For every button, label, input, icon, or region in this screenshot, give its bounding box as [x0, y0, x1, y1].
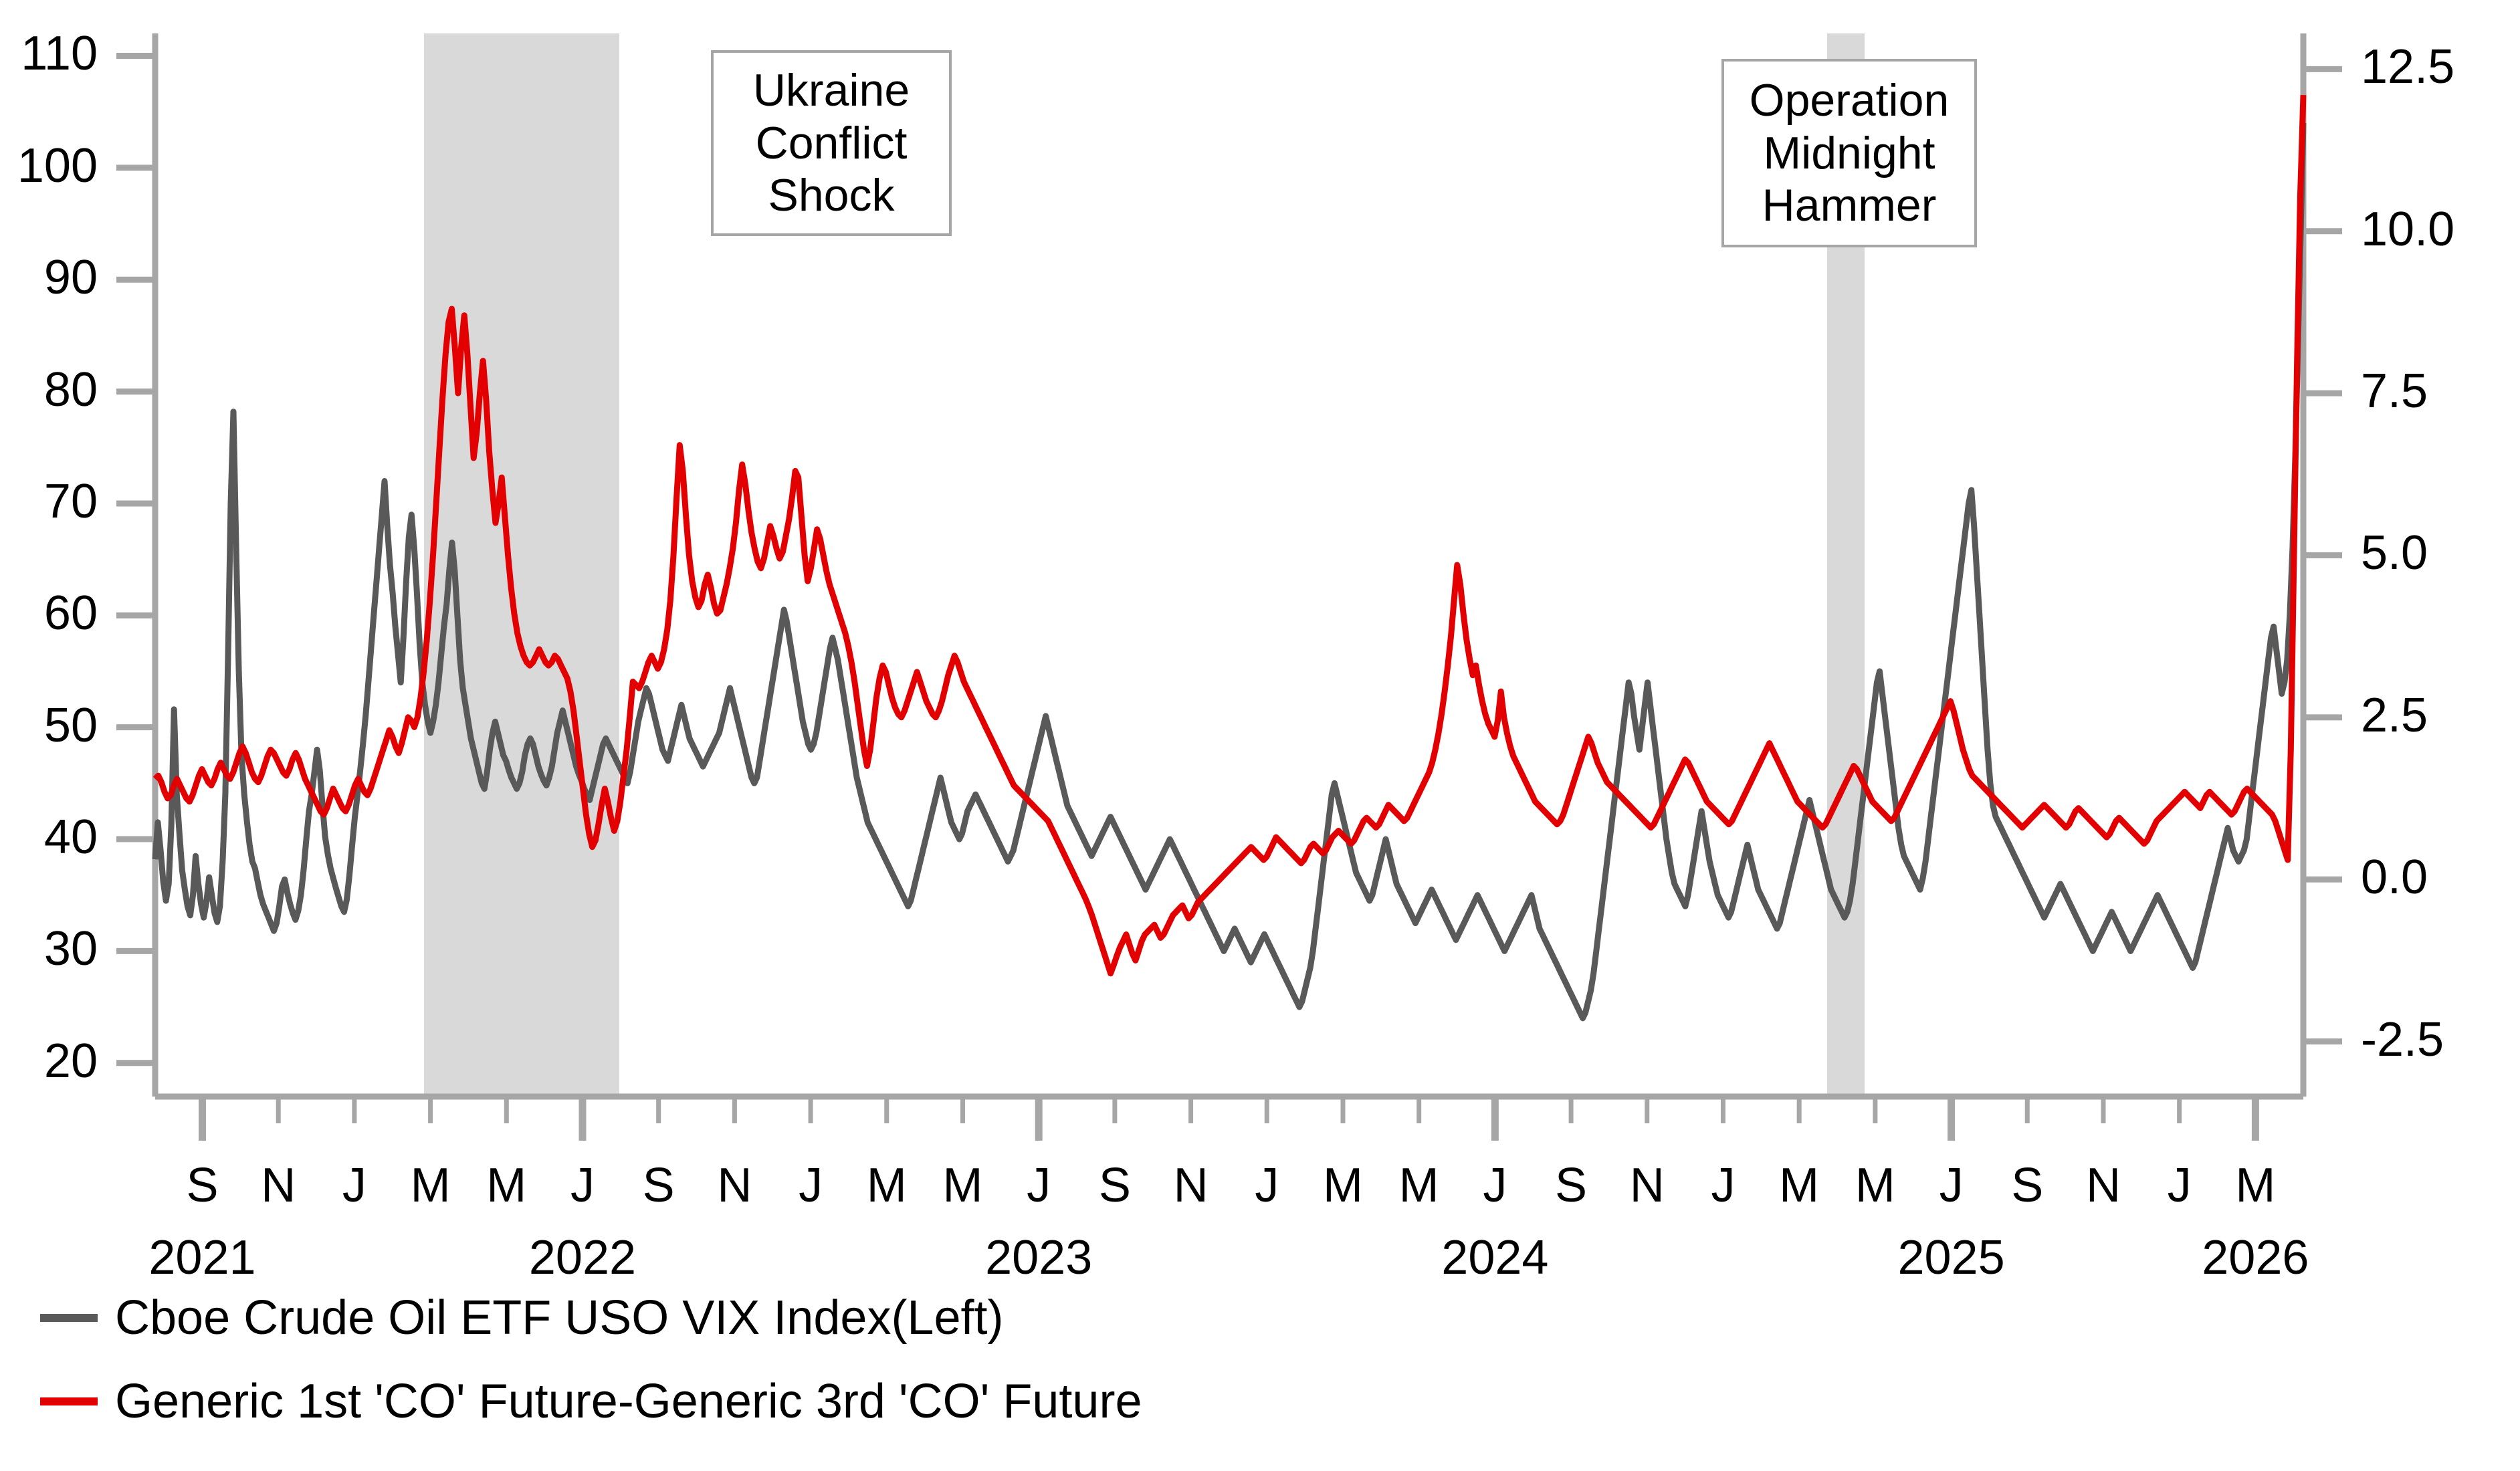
x-axis-year-label: 2021	[95, 1230, 309, 1285]
right-axis-tick-label: 7.5	[2361, 364, 2520, 419]
right-axis-tick-label: 5.0	[2361, 526, 2520, 580]
annotation-line: Hammer	[1762, 179, 1937, 232]
x-axis-year-label: 2025	[1845, 1230, 2059, 1285]
x-axis-year-label: 2022	[476, 1230, 690, 1285]
left-axis-tick-label: 110	[0, 26, 98, 81]
bottom-axis-ticks	[202, 1097, 2255, 1141]
series-layer	[0, 0, 2520, 1471]
left-axis-tick-label: 20	[0, 1034, 98, 1089]
left-axis-tick-label: 40	[0, 810, 98, 865]
annotation-line: Shock	[768, 169, 895, 222]
right-axis-tick-label: 12.5	[2361, 39, 2520, 94]
ukraine-conflict-band	[424, 33, 619, 1097]
legend-label: Generic 1st 'CO' Future-Generic 3rd 'CO'…	[115, 1374, 1142, 1429]
annotation-line: Ukraine	[753, 64, 910, 117]
left-axis-tick-label: 90	[0, 250, 98, 305]
legend-entry-uso-vix[interactable]: Cboe Crude Oil ETF USO VIX Index(Left)	[40, 1290, 1003, 1345]
annotation-ukraine-conflict-shock: Ukraine Conflict Shock	[711, 50, 952, 236]
left-axis-ticks	[116, 55, 155, 1062]
legend-color-swatch	[40, 1314, 98, 1322]
left-axis-tick-label: 50	[0, 698, 98, 753]
legend-color-swatch	[40, 1397, 98, 1405]
left-axis-tick-label: 70	[0, 474, 98, 529]
x-axis-year-label: 2024	[1388, 1230, 1602, 1285]
right-axis-tick-label: 0.0	[2361, 850, 2520, 905]
annotation-operation-midnight-hammer: Operation Midnight Hammer	[1721, 59, 1977, 247]
left-axis-tick-label: 80	[0, 362, 98, 417]
annotation-line: Conflict	[756, 117, 908, 170]
chart-container: 1101009080706050403020 12.510.07.55.02.5…	[0, 0, 2520, 1471]
right-axis-tick-label: -2.5	[2361, 1012, 2520, 1067]
x-axis-year-label: 2026	[2148, 1230, 2362, 1285]
legend-label: Cboe Crude Oil ETF USO VIX Index(Left)	[115, 1290, 1003, 1345]
axes-frame	[0, 0, 2520, 1471]
annotation-line: Midnight	[1763, 127, 1935, 180]
legend-entry-co-spread[interactable]: Generic 1st 'CO' Future-Generic 3rd 'CO'…	[40, 1374, 1142, 1429]
left-axis-tick-label: 30	[0, 921, 98, 976]
annotation-line: Operation	[1750, 74, 1950, 127]
right-axis-tick-label: 2.5	[2361, 688, 2520, 743]
x-axis-year-label: 2023	[932, 1230, 1146, 1285]
left-axis-tick-label: 100	[0, 138, 98, 193]
right-axis-tick-label: 10.0	[2361, 202, 2520, 257]
right-axis-ticks	[2303, 69, 2342, 1041]
left-axis-tick-label: 60	[0, 586, 98, 641]
x-axis-tick-label: M	[2208, 1158, 2302, 1213]
